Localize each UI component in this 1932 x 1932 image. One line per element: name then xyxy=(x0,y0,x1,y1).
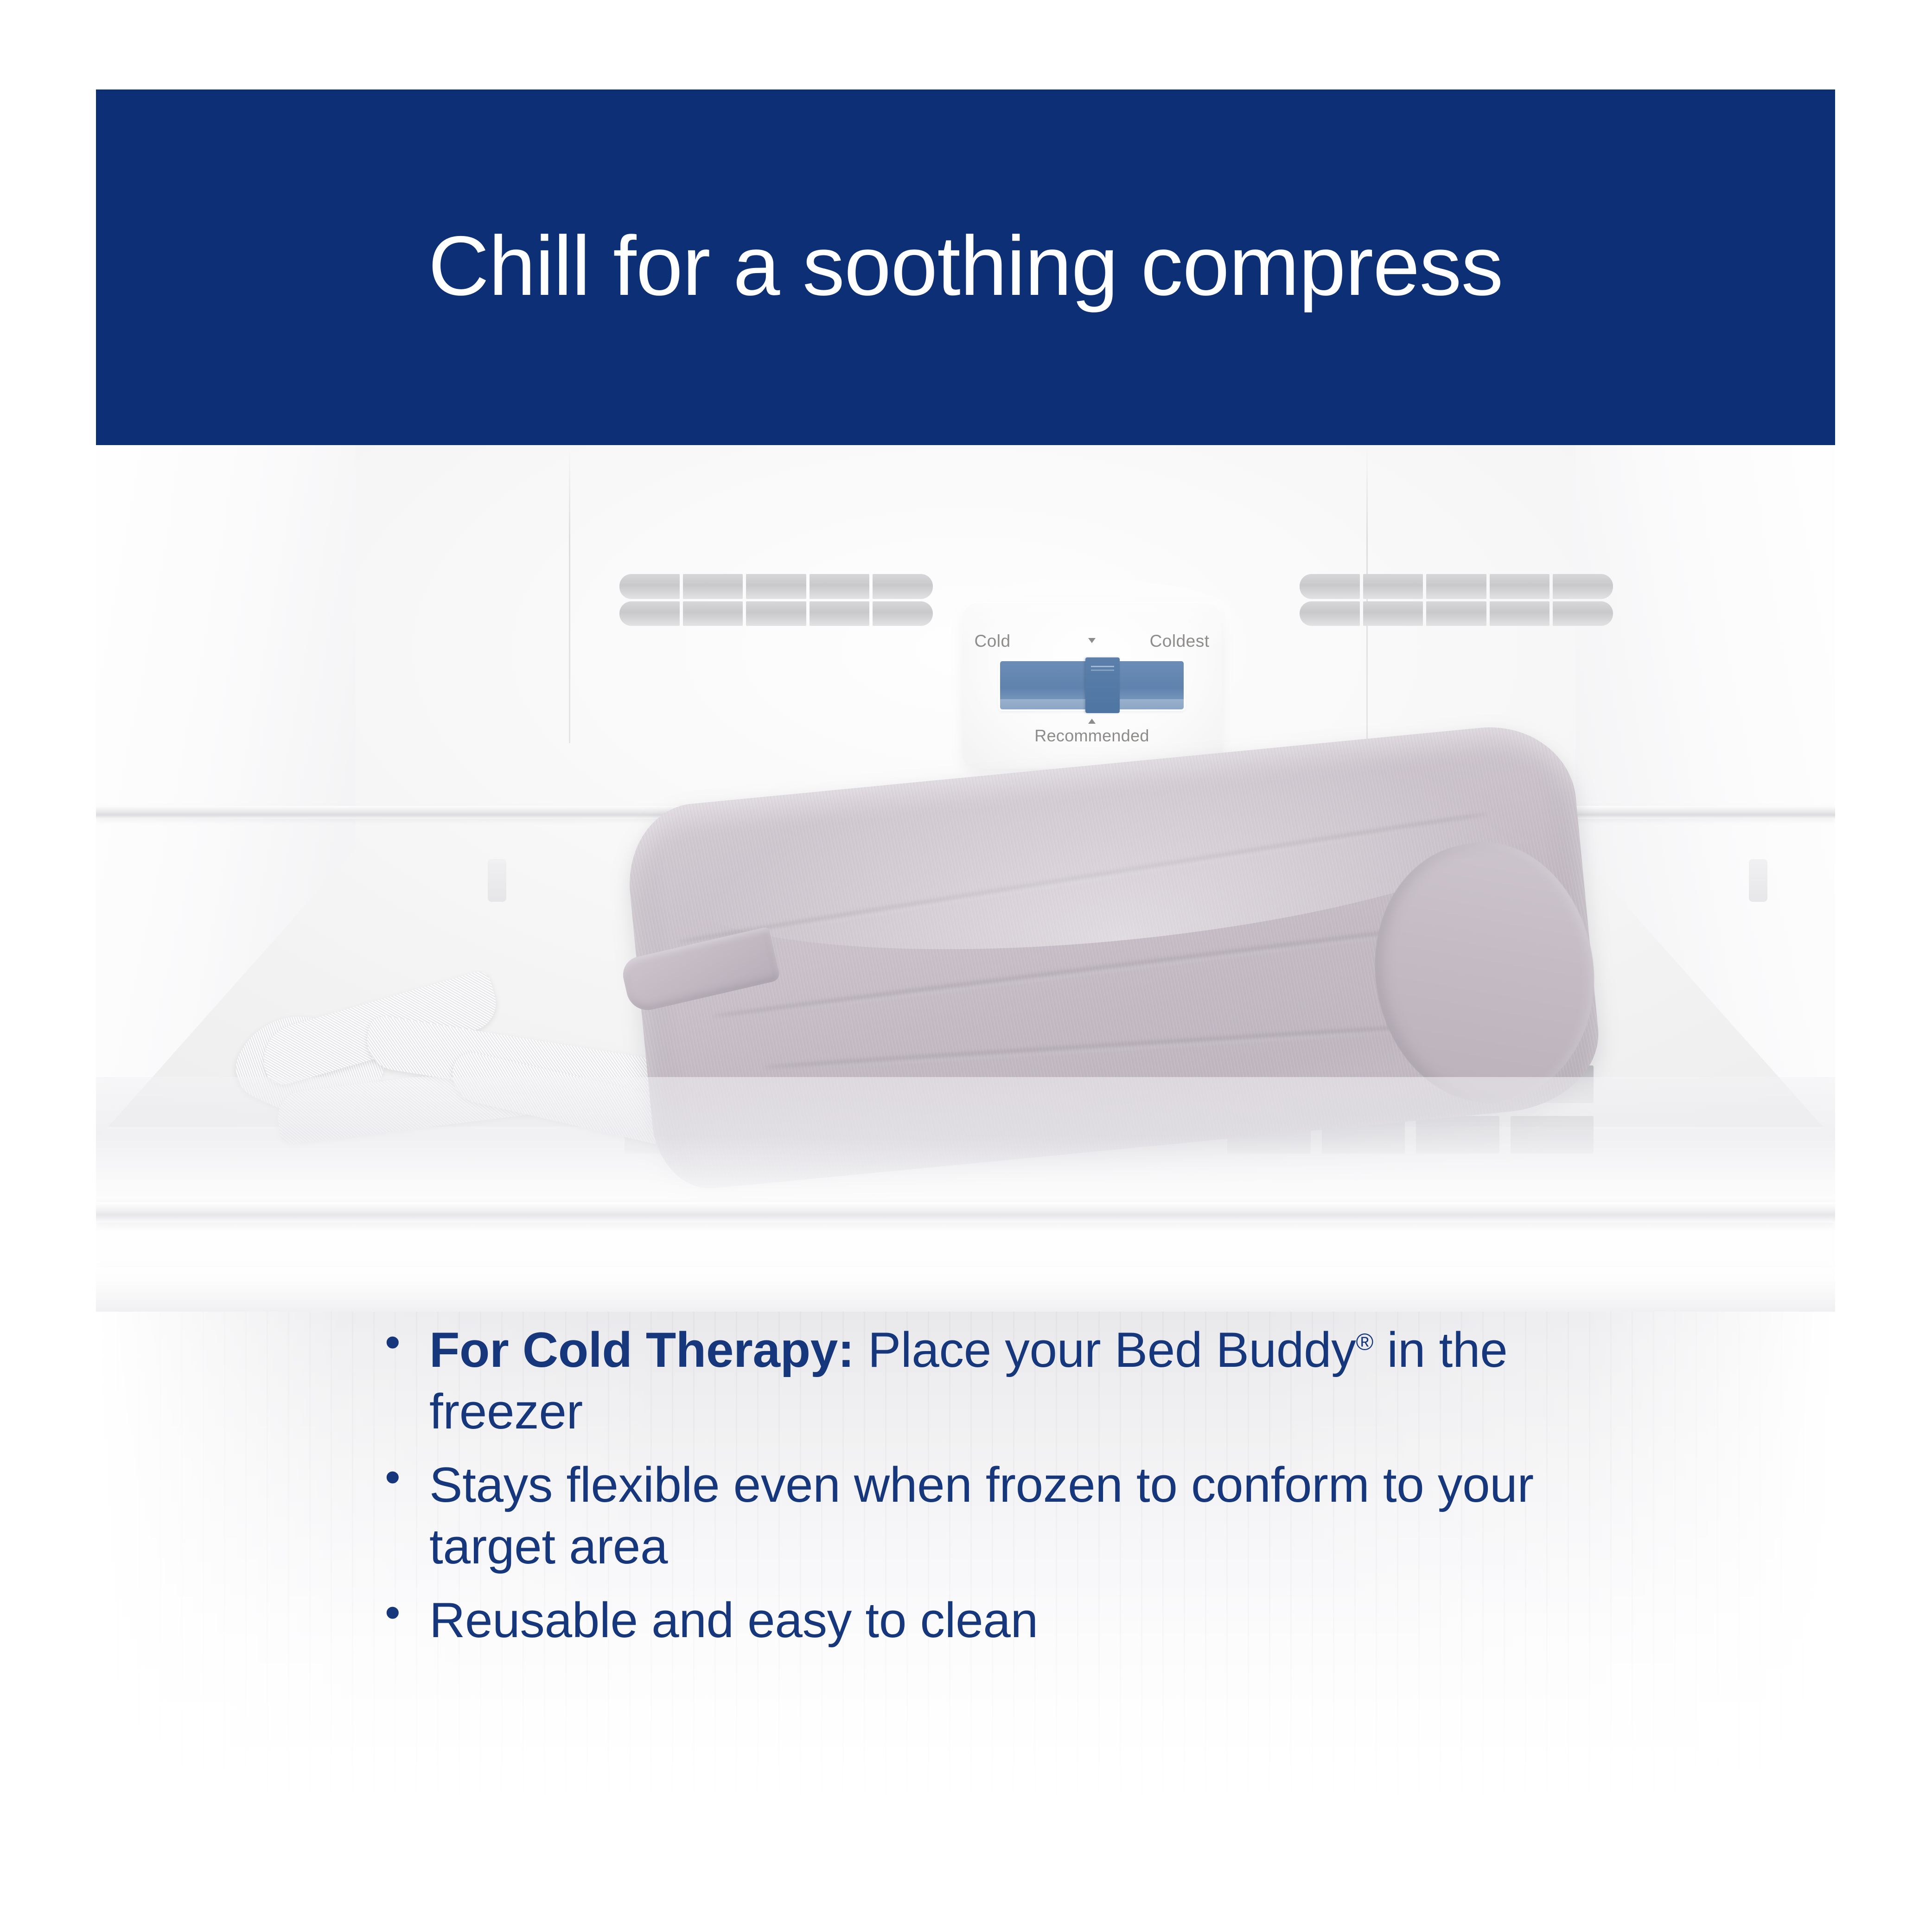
list-item: • Reusable and easy to clean xyxy=(385,1589,1590,1651)
recommended-pointer-icon xyxy=(1088,719,1096,724)
temperature-scale-labels: Cold Coldest xyxy=(962,631,1222,651)
feature-bullet-list: • For Cold Therapy: Place your Bed Buddy… xyxy=(385,1319,1590,1663)
wall-seam-left xyxy=(569,446,570,743)
vent-slot xyxy=(1363,601,1423,626)
vent-slot xyxy=(1553,601,1613,626)
bullet-text: Stays flexible even when frozen to confo… xyxy=(429,1454,1590,1577)
vent-slot xyxy=(683,601,743,626)
bullet-text: Reusable and easy to clean xyxy=(429,1589,1038,1651)
label-coldest: Coldest xyxy=(1150,631,1210,651)
vent-slot xyxy=(1300,574,1360,599)
vent-slot xyxy=(1553,574,1613,599)
vent-slot xyxy=(810,574,870,599)
vent-slot xyxy=(746,601,806,626)
vent-slot xyxy=(873,601,933,626)
freezer-vent-left xyxy=(619,574,933,626)
banner-title: Chill for a soothing compress xyxy=(428,223,1503,308)
bullet-text: For Cold Therapy: Place your Bed Buddy® … xyxy=(429,1319,1590,1442)
label-recommended: Recommended xyxy=(962,726,1222,746)
list-item: • For Cold Therapy: Place your Bed Buddy… xyxy=(385,1319,1590,1442)
registered-trademark-icon: ® xyxy=(1356,1328,1374,1355)
list-item: • Stays flexible even when frozen to con… xyxy=(385,1454,1590,1577)
pack-channel-seam xyxy=(677,810,1489,946)
bullet-rest: Reusable and easy to clean xyxy=(429,1592,1038,1648)
temperature-slider-handle[interactable] xyxy=(1085,657,1120,713)
bullet-marker-icon: • xyxy=(385,1457,401,1498)
vent-slot xyxy=(1363,574,1423,599)
vent-slot xyxy=(619,574,680,599)
pack-channel-seam xyxy=(763,1020,1486,1071)
shelf-clip-left xyxy=(488,859,506,902)
bullet-lead: For Cold Therapy: xyxy=(429,1322,854,1377)
bullet-rest: Place your Bed Buddy xyxy=(854,1322,1356,1377)
bullet-marker-icon: • xyxy=(385,1592,401,1633)
shelf-clip-right xyxy=(1749,859,1767,902)
vent-slot xyxy=(873,574,933,599)
vent-slot xyxy=(810,601,870,626)
bullet-marker-icon: • xyxy=(385,1322,401,1363)
freezer-shelf-front-trim xyxy=(96,1267,1835,1312)
freezer-temperature-control-panel[interactable]: Cold Coldest Recommended xyxy=(962,602,1222,769)
freezer-shelf-edge xyxy=(96,1202,1835,1223)
vent-slot xyxy=(1490,574,1550,599)
vent-slot xyxy=(1426,601,1486,626)
header-banner: Chill for a soothing compress xyxy=(96,89,1835,445)
vent-slot xyxy=(746,574,806,599)
vent-slot xyxy=(1490,601,1550,626)
vent-slot xyxy=(619,601,680,626)
bullet-rest: Stays flexible even when frozen to confo… xyxy=(429,1457,1534,1574)
vent-slot xyxy=(1426,574,1486,599)
label-cold: Cold xyxy=(974,631,1010,651)
vent-slot xyxy=(683,574,743,599)
vent-slot xyxy=(1300,601,1360,626)
scale-midpoint-marker-icon xyxy=(1088,638,1096,643)
freezer-vent-right xyxy=(1300,574,1613,626)
